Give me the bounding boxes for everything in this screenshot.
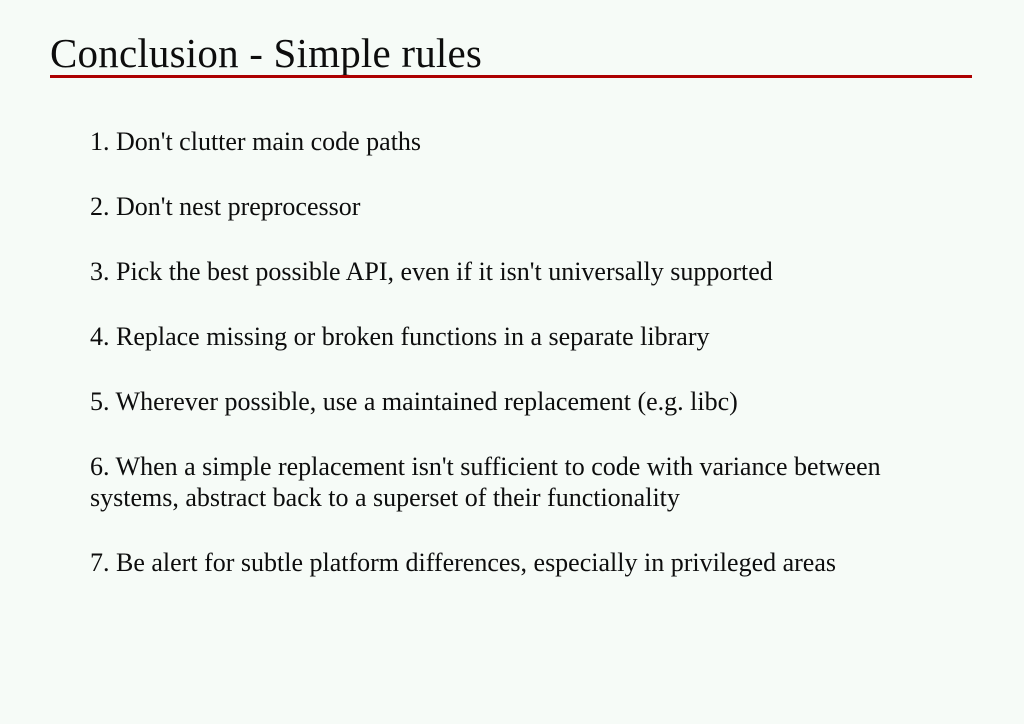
page-title: Conclusion - Simple rules (50, 30, 482, 76)
list-item: 2. Don't nest preprocessor (90, 191, 970, 222)
list-item: 3. Pick the best possible API, even if i… (90, 256, 970, 287)
list-item: 6. When a simple replacement isn't suffi… (90, 451, 930, 513)
rules-list: 1. Don't clutter main code paths 2. Don'… (90, 126, 970, 578)
slide: Conclusion - Simple rules 1. Don't clutt… (0, 0, 1024, 724)
list-item: 7. Be alert for subtle platform differen… (90, 547, 930, 578)
list-item: 4. Replace missing or broken functions i… (90, 321, 970, 352)
list-item: 1. Don't clutter main code paths (90, 126, 970, 157)
title-divider (50, 75, 972, 78)
list-item: 5. Wherever possible, use a maintained r… (90, 386, 970, 417)
